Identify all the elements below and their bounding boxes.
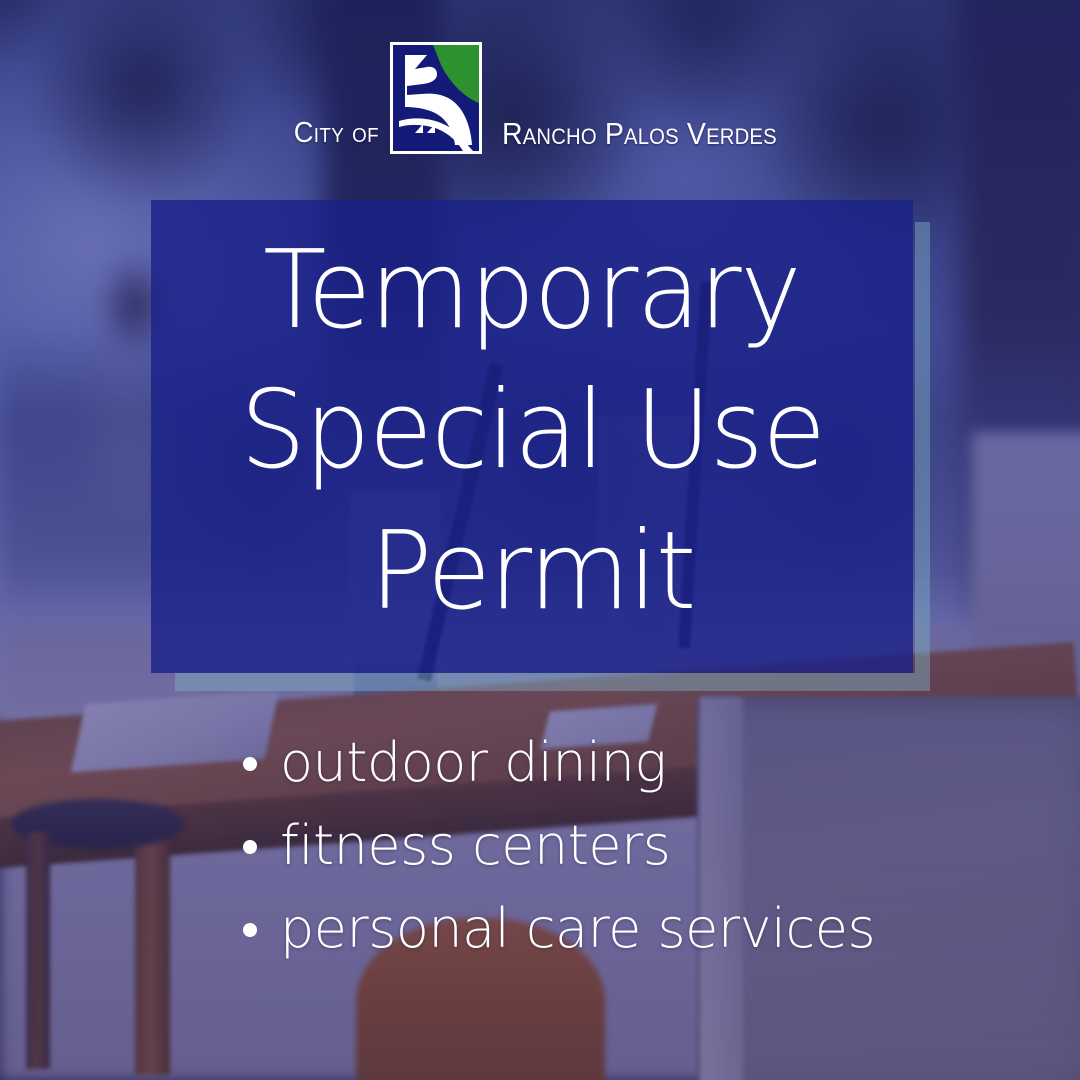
title-line-1: Temporary	[264, 221, 801, 361]
list-item: fitness centers	[243, 817, 1033, 874]
city-of-label: City of	[294, 119, 379, 156]
bullet-dot-icon	[243, 923, 257, 937]
list-item-label: outdoor dining	[280, 734, 666, 791]
list-item-label: personal care services	[280, 900, 875, 957]
temporary-special-use-permit-poster: City of Rancho Palos Verdes Temporary Sp…	[0, 0, 1080, 1080]
city-name-label: Rancho Palos Verdes	[502, 118, 777, 156]
list-item: outdoor dining	[243, 734, 1033, 791]
title-line-2: Special Use	[240, 361, 824, 501]
city-logo-lockup: City of Rancho Palos Verdes	[0, 36, 1080, 156]
rpv-city-seal-pelican-icon	[390, 42, 482, 154]
title-panel: Temporary Special Use Permit	[151, 200, 913, 673]
bullet-dot-icon	[243, 840, 257, 854]
permit-category-list: outdoor dining fitness centers personal …	[243, 734, 1033, 958]
list-item: personal care services	[243, 900, 1033, 957]
list-item-label: fitness centers	[280, 817, 670, 874]
bullet-dot-icon	[243, 757, 257, 771]
title-line-3: Permit	[369, 502, 694, 642]
